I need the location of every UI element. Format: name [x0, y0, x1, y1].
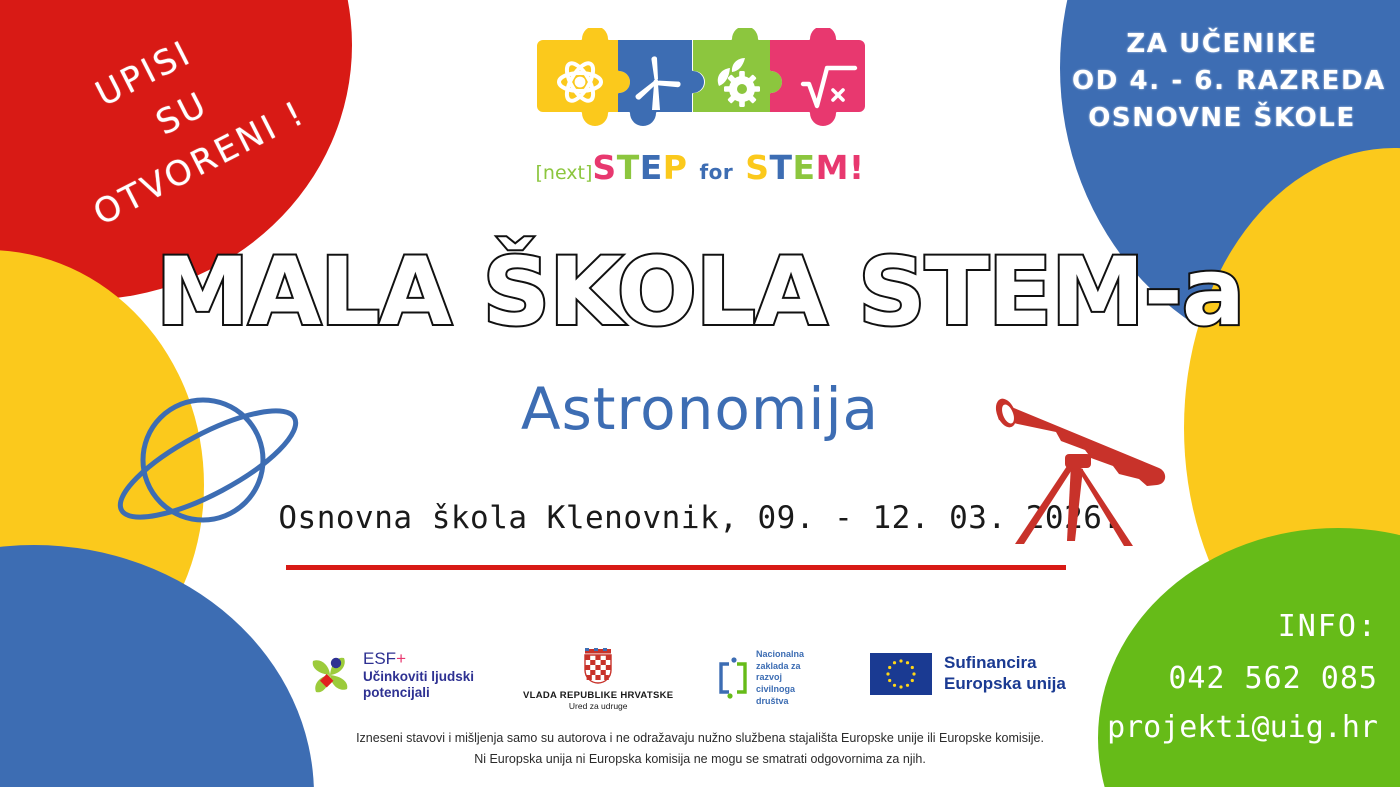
info-phone-number[interactable]: 042 562 085: [1107, 656, 1378, 702]
sponsor-european-union-logo: Sufinancira Europska unija: [870, 653, 1066, 695]
logo-letter-e1: E: [640, 148, 663, 187]
bracket-icon: [715, 656, 749, 700]
eu-line-2: Europska unija: [944, 674, 1066, 695]
target-audience-badge: ZA UČENIKE OD 4. - 6. RAZREDA OSNOVNE ŠK…: [1072, 26, 1372, 137]
next-step-for-stem-logo: [next]STEP for STEM!: [520, 28, 880, 187]
info-email-address[interactable]: projekti@uig.hr: [1107, 705, 1378, 751]
logo-letter-t1: T: [617, 148, 640, 187]
telescope-icon: [985, 382, 1185, 560]
puzzle-pieces-graphic: [535, 28, 865, 136]
zaklada-text: Nacionalna zaklada za razvoj civilnoga d…: [756, 649, 804, 707]
logo-exclamation: !: [849, 148, 865, 187]
puzzle-piece-mathematics: [770, 28, 865, 126]
red-divider-rule: [286, 565, 1066, 570]
logo-letter-s1: S: [592, 148, 616, 187]
info-label: INFO:: [1107, 604, 1378, 650]
zaklada-line-1: Nacionalna: [756, 649, 804, 661]
puzzle-piece-technology: [618, 40, 704, 126]
vlada-subtitle: Ured za udruge: [569, 701, 628, 711]
logo-letter-e2: E: [793, 148, 816, 187]
audience-line-2: OD 4. - 6. RAZREDA: [1072, 63, 1372, 100]
logo-next-text: [next]: [535, 162, 592, 184]
sponsor-nacionalna-zaklada-logo: Nacionalna zaklada za razvoj civilnoga d…: [715, 649, 804, 707]
sponsor-croatian-government-logo: VLADA REPUBLIKE HRVATSKE Ured za udruge: [523, 647, 673, 711]
logo-letter-s2: S: [745, 148, 769, 187]
eu-line-1: Sufinancira: [944, 653, 1066, 674]
vlada-title: VLADA REPUBLIKE HRVATSKE: [523, 690, 673, 701]
esf-plus: +: [396, 649, 406, 668]
zaklada-line-5: društva: [756, 696, 804, 708]
planet-saturn-icon: [108, 372, 313, 562]
logo-letter-m2: M: [816, 148, 849, 187]
sponsor-esf-logo: ESF+ Učinkoviti ljudski potencijali: [305, 649, 474, 701]
eu-flag-icon: [870, 653, 932, 695]
esf-subtitle-line-2: potencijali: [363, 685, 474, 701]
esf-subtitle-line-1: Učinkoviti ljudski: [363, 669, 474, 685]
puzzle-piece-science: [537, 28, 630, 126]
logo-for-text: for: [699, 160, 733, 184]
audience-line-1: ZA UČENIKE: [1072, 26, 1372, 63]
zaklada-line-2: zaklada za: [756, 661, 804, 673]
croatian-coat-of-arms-icon: [578, 647, 618, 687]
logo-letter-p1: P: [663, 148, 688, 187]
poster-canvas: UPISI SU OTVORENI ! ZA UČENIKE OD 4. - 6…: [0, 0, 1400, 787]
contact-info-block: INFO: 042 562 085 projekti@uig.hr: [1107, 604, 1378, 751]
esf-pinwheel-icon: [305, 650, 355, 700]
logo-letter-t2: T: [770, 148, 793, 187]
logo-wordmark: [next]STEP for STEM!: [520, 148, 880, 187]
zaklada-line-4: civilnoga: [756, 684, 804, 696]
eu-text: Sufinancira Europska unija: [944, 653, 1066, 694]
audience-line-3: OSNOVNE ŠKOLE: [1072, 100, 1372, 137]
disclaimer-line-2: Ni Europska unija ni Europska komisija n…: [0, 749, 1400, 770]
puzzle-piece-engineering: [693, 28, 782, 112]
esf-title-text: ESF: [363, 649, 396, 668]
esf-title: ESF+: [363, 649, 474, 669]
zaklada-line-3: razvoj: [756, 672, 804, 684]
page-title: MALA ŠKOLA STEM-a: [0, 244, 1400, 343]
sponsor-logo-strip: ESF+ Učinkoviti ljudski potencijali: [295, 645, 1095, 707]
